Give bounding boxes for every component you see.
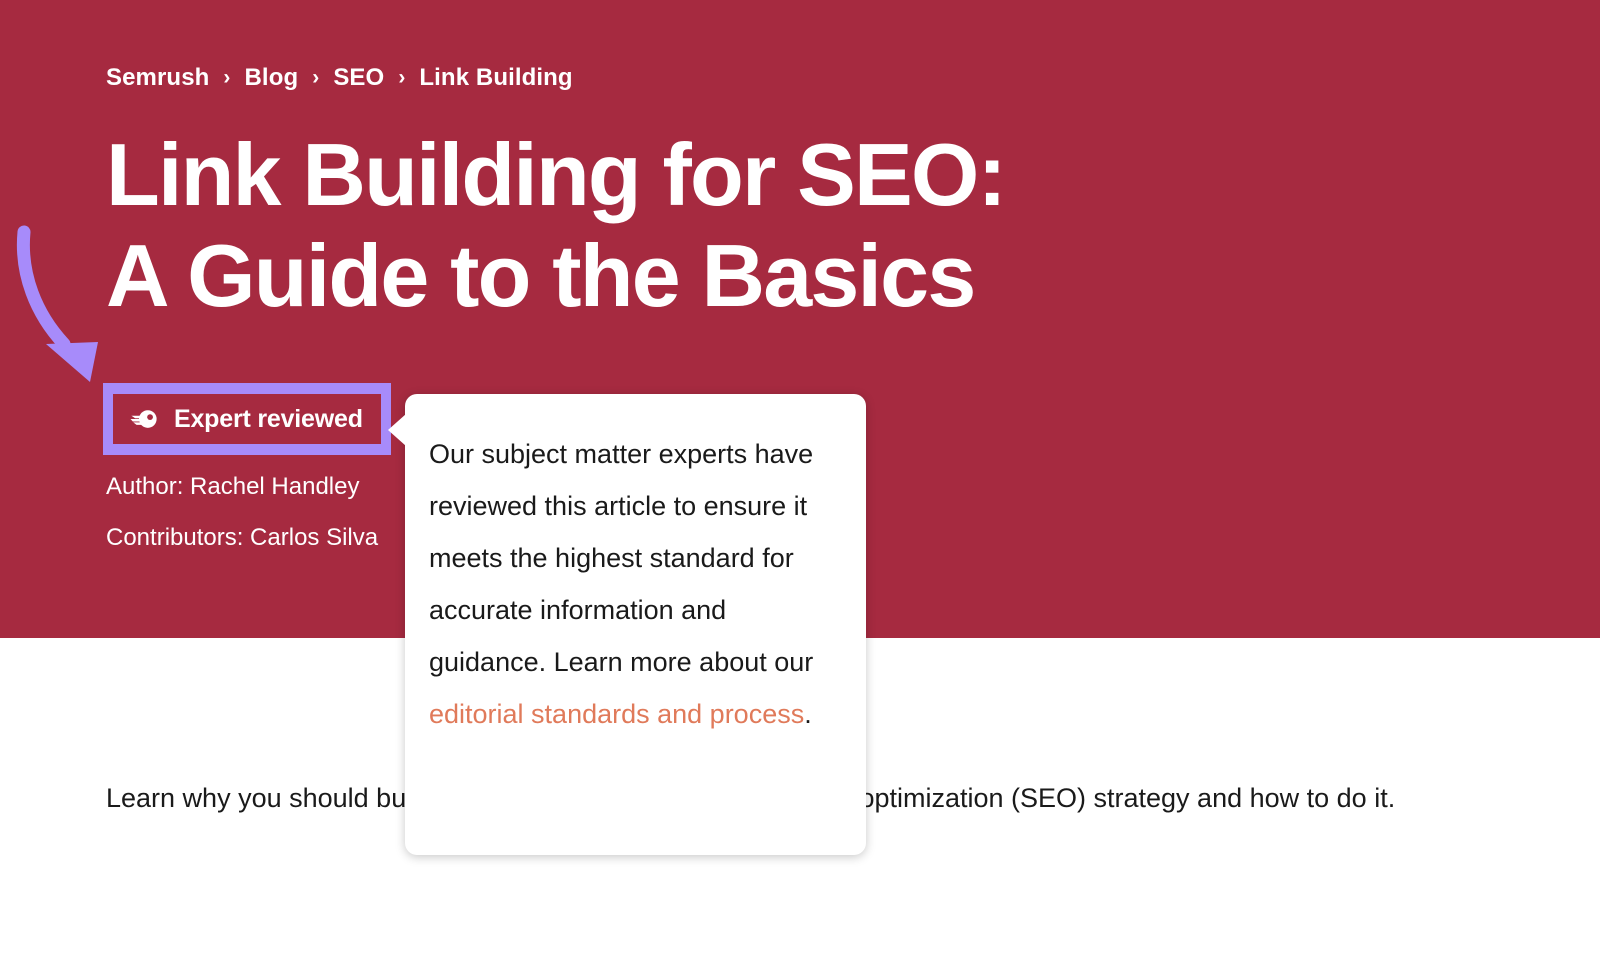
breadcrumb-item-semrush[interactable]: Semrush	[106, 64, 209, 92]
chevron-right-icon: ›	[223, 67, 230, 88]
breadcrumb-item-link-building[interactable]: Link Building	[419, 64, 572, 92]
semrush-comet-icon	[130, 408, 160, 430]
tooltip-body-after-link: .	[804, 699, 812, 729]
page-title: Link Building for SEO: A Guide to the Ba…	[106, 124, 1306, 326]
page-title-line-1: Link Building for SEO:	[106, 124, 1306, 225]
chevron-right-icon: ›	[312, 67, 319, 88]
breadcrumb-item-seo[interactable]: SEO	[333, 64, 384, 92]
chevron-right-icon: ›	[398, 67, 405, 88]
expert-reviewed-highlight-box: Expert reviewed	[103, 383, 391, 455]
breadcrumb: Semrush › Blog › SEO › Link Building	[106, 64, 573, 92]
editorial-standards-link[interactable]: editorial standards and process	[429, 699, 804, 729]
breadcrumb-item-blog[interactable]: Blog	[245, 64, 299, 92]
contributors-line: Contributors: Carlos Silva	[106, 524, 378, 552]
expert-reviewed-label: Expert reviewed	[174, 405, 363, 434]
tooltip-text: Our subject matter experts have reviewed…	[429, 428, 836, 740]
page-title-line-2: A Guide to the Basics	[106, 225, 1306, 326]
expert-reviewed-badge[interactable]: Expert reviewed	[113, 394, 381, 444]
tooltip-pointer-icon	[388, 414, 406, 446]
tooltip-body-before-link: Our subject matter experts have reviewed…	[429, 439, 813, 677]
author-line: Author: Rachel Handley	[106, 473, 359, 501]
expert-reviewed-tooltip: Our subject matter experts have reviewed…	[405, 394, 866, 855]
